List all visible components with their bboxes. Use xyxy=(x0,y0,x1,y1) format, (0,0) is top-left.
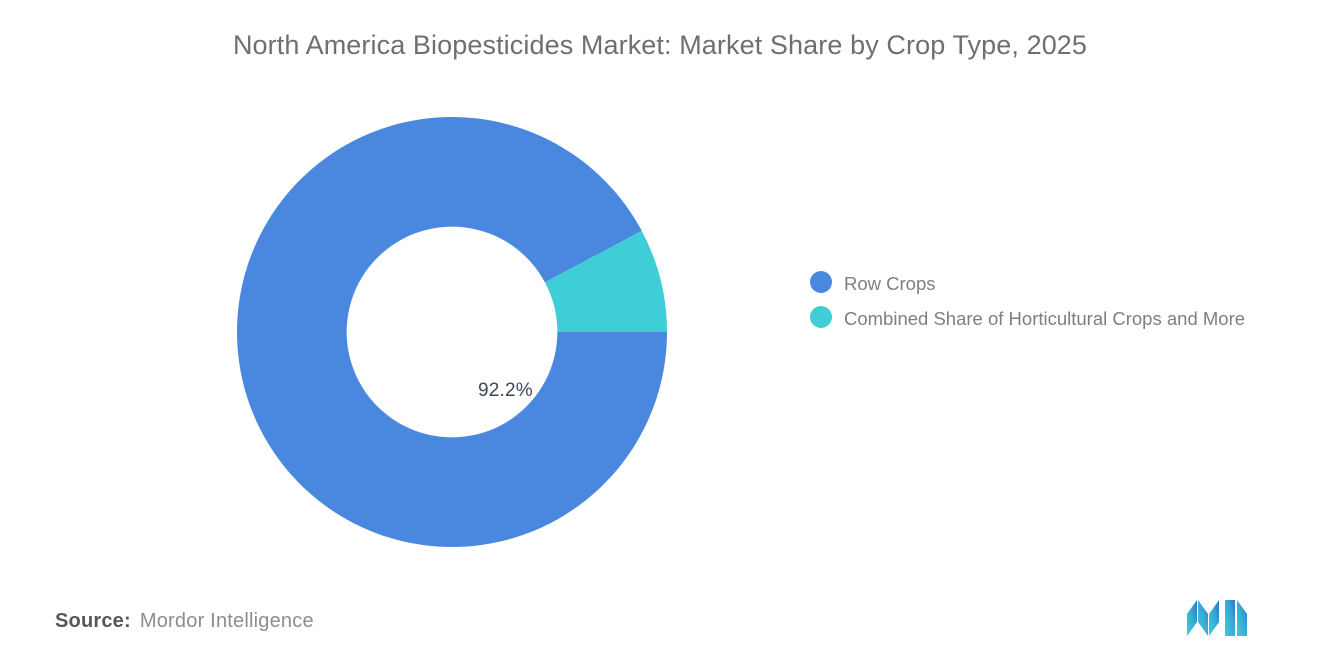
donut-chart-plot-area: 92.2% xyxy=(200,95,720,570)
legend-label-combined-share: Combined Share of Horticultural Crops an… xyxy=(844,305,1245,333)
source-label: Source: xyxy=(55,610,131,633)
legend-label-row-crops: Row Crops xyxy=(844,270,936,298)
chart-legend: Row Crops Combined Share of Horticultura… xyxy=(810,270,1290,340)
donut-slice-group xyxy=(237,117,667,547)
legend-swatch-icon-combined-share xyxy=(810,306,832,328)
donut-chart-svg xyxy=(200,95,720,570)
legend-item-row-crops[interactable]: Row Crops xyxy=(810,270,1290,298)
source-attribution: Source: Mordor Intelligence xyxy=(55,610,314,633)
legend-item-combined-share[interactable]: Combined Share of Horticultural Crops an… xyxy=(810,305,1290,333)
legend-swatch-icon-row-crops xyxy=(810,271,832,293)
chart-title: North America Biopesticides Market: Mark… xyxy=(0,30,1320,61)
chart-card: North America Biopesticides Market: Mark… xyxy=(0,0,1320,665)
mordor-intelligence-logo-icon xyxy=(1185,598,1253,636)
source-value: Mordor Intelligence xyxy=(140,610,314,633)
donut-data-label-row-crops: 92.2% xyxy=(478,380,533,402)
